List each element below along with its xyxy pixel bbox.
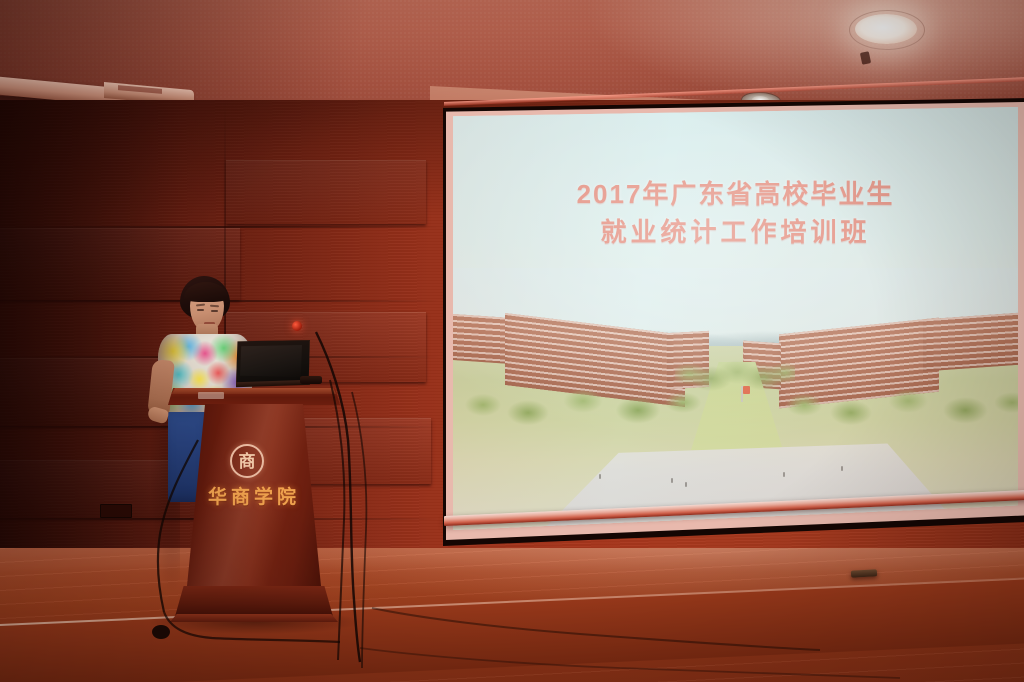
conference-hall-scene: 2017年广东省高校毕业生 就业统计工作培训班 bbox=[0, 0, 1024, 682]
podium: 商 华商学院 bbox=[168, 388, 340, 628]
school-emblem-icon: 商 bbox=[230, 444, 264, 478]
laptop-screen bbox=[240, 345, 302, 377]
microphone-head-icon[interactable] bbox=[292, 321, 302, 331]
floor-object bbox=[851, 569, 877, 577]
podium-top-lip bbox=[170, 388, 338, 394]
recessed-downlight-icon bbox=[855, 14, 917, 44]
wall-outlet-panel[interactable] bbox=[100, 504, 132, 518]
presenter-eye-left bbox=[197, 309, 204, 311]
podium-school-name: 华商学院 bbox=[168, 482, 340, 509]
projector-light-wash bbox=[453, 107, 1018, 530]
podium-nameplate bbox=[198, 392, 224, 399]
microphone-base[interactable] bbox=[300, 376, 322, 384]
projection-screen-surface: 2017年广东省高校毕业生 就业统计工作培训班 bbox=[453, 107, 1018, 530]
podium-base-lip bbox=[170, 614, 338, 622]
laptop[interactable] bbox=[236, 340, 308, 388]
school-emblem-glyph: 商 bbox=[239, 453, 256, 470]
projection-screen[interactable]: 2017年广东省高校毕业生 就业统计工作培训班 bbox=[443, 98, 1024, 546]
presenter-eye-right bbox=[211, 310, 218, 312]
